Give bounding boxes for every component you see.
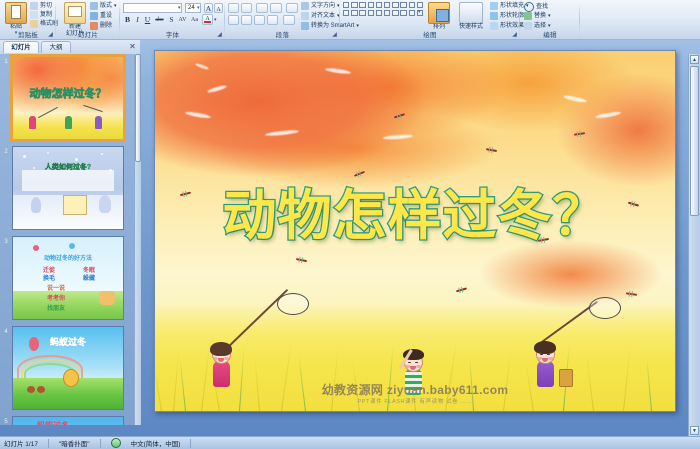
thumbnail-row-2[interactable]: 2 人类如何过冬? bbox=[0, 146, 134, 230]
shape-arc-icon[interactable] bbox=[359, 10, 365, 16]
shape-rect2-icon[interactable] bbox=[400, 2, 406, 8]
font-name-input[interactable] bbox=[123, 3, 182, 13]
replace-button[interactable]: 替换▾ bbox=[524, 12, 551, 20]
character-spacing-button[interactable]: AV bbox=[177, 15, 188, 25]
thumbnail-row-1[interactable]: 1 动物怎样过冬？ bbox=[0, 56, 134, 140]
shape-line-icon[interactable] bbox=[359, 2, 365, 8]
slide-editing-stage[interactable]: 动物怎样过冬？ bbox=[140, 44, 688, 423]
main-scrollbar-thumb[interactable] bbox=[690, 66, 699, 216]
status-bar: 幻灯片 1/17 "暗香扑面" 中文(简体，中国) bbox=[0, 436, 700, 449]
thumb3-word-huanmao: 换毛 bbox=[43, 273, 55, 282]
thumb4-ant bbox=[27, 386, 35, 393]
paste-button[interactable]: 粘贴 ▾ bbox=[3, 2, 29, 36]
clipboard-dialog-launcher[interactable]: ◢ bbox=[47, 32, 54, 39]
thumbnail-number-4: 4 bbox=[0, 326, 12, 410]
status-slide-counter[interactable]: 幻灯片 1/17 bbox=[4, 438, 38, 448]
scroll-down-arrow[interactable]: ▼ bbox=[690, 426, 699, 435]
slide-thumbnail-3[interactable]: 动物过冬的好方法 迁徙 冬眠 换毛 躲藏 说一说 考考你 找朋友 bbox=[12, 236, 124, 320]
select-button[interactable]: 选择▾ bbox=[524, 22, 551, 30]
shape-oval-icon[interactable] bbox=[392, 2, 398, 8]
thumb3-butterfly bbox=[69, 243, 75, 249]
thumb3-butterfly bbox=[33, 245, 39, 251]
watermark-text: 幼教资源网 ziyuan.baby611.com bbox=[155, 381, 675, 398]
shape-effects-icon bbox=[490, 22, 498, 30]
increase-indent-button[interactable] bbox=[270, 3, 282, 13]
globe-icon bbox=[111, 438, 121, 448]
thumb4-ant-big bbox=[63, 369, 79, 387]
slide-thumbnail-2[interactable]: 人类如何过冬? bbox=[12, 146, 124, 230]
increase-font-size-icon: A bbox=[205, 4, 212, 14]
slide-thumbnail-4[interactable]: 蚂蚁过冬 bbox=[12, 326, 124, 410]
reset-label: 重设 bbox=[100, 12, 112, 20]
thumb5-cloud bbox=[73, 423, 93, 425]
search-icon bbox=[524, 2, 534, 12]
text-direction-label: 文字方向 bbox=[311, 2, 335, 10]
align-text-icon bbox=[301, 12, 309, 20]
shape-rectangle-icon[interactable] bbox=[343, 2, 349, 8]
format-painter-button[interactable]: 格式刷 bbox=[30, 20, 58, 28]
decrease-font-size-button[interactable]: A bbox=[214, 3, 223, 13]
group-label-font: 字体 bbox=[120, 32, 225, 40]
justify-button[interactable] bbox=[267, 15, 278, 25]
scroll-up-arrow[interactable]: ▲ bbox=[690, 55, 699, 64]
thumbnail-number-5: 5 bbox=[0, 416, 12, 425]
shape-star-icon[interactable] bbox=[392, 10, 398, 16]
shape-fill-icon bbox=[490, 2, 498, 10]
align-center-button[interactable] bbox=[241, 15, 252, 25]
underline-button[interactable]: U bbox=[143, 15, 152, 25]
thumbnail-row-3[interactable]: 3 动物过冬的好方法 迁徙 冬眠 换毛 躲藏 说一说 考考你 找朋友 bbox=[0, 236, 134, 320]
font-size-dropdown-arrow[interactable]: ▾ bbox=[197, 5, 200, 11]
cut-label: 剪切 bbox=[40, 2, 52, 10]
quick-styles-icon bbox=[459, 2, 483, 24]
group-label-slides: 幻灯片 bbox=[56, 32, 120, 40]
thumbnail-number-3: 3 bbox=[0, 236, 12, 320]
main-vertical-scrollbar[interactable]: ▲ ▼ bbox=[688, 54, 700, 436]
delete-slide-button[interactable]: 删除 bbox=[90, 22, 112, 30]
paintbrush-icon bbox=[30, 20, 38, 28]
shape-pentagon-icon[interactable] bbox=[376, 10, 382, 16]
arrange-icon bbox=[428, 2, 450, 24]
shape-chevron-icon[interactable] bbox=[400, 10, 406, 16]
thumb2-tree bbox=[99, 195, 111, 213]
thumbnail-title-1: 动物怎样过冬？ bbox=[13, 85, 123, 101]
font-name-dropdown-arrow[interactable]: ▾ bbox=[178, 5, 181, 11]
child-hair bbox=[534, 341, 556, 354]
tab-outline[interactable]: 大纲 bbox=[41, 41, 71, 53]
shape-line2-icon[interactable] bbox=[368, 2, 374, 8]
left-pane-tabstrip: 幻灯片 大纲 ✕ bbox=[0, 40, 140, 55]
group-label-paragraph: 段落 bbox=[225, 32, 340, 40]
align-text-label: 对齐文本 bbox=[311, 12, 335, 20]
thumb3-deer bbox=[99, 291, 115, 305]
current-slide[interactable]: 动物怎样过冬？ bbox=[154, 50, 676, 412]
shapes-more-arrow[interactable]: ▾ bbox=[418, 9, 421, 15]
thumb2-house bbox=[63, 195, 87, 215]
thumb2-text-block bbox=[22, 170, 114, 191]
snowflake bbox=[75, 158, 78, 161]
powerpoint-window: 粘贴 ▾ 剪切 复制 格式刷 剪贴板 ◢ bbox=[0, 0, 700, 449]
font-color-swatch bbox=[204, 21, 211, 23]
shape-arrow-icon[interactable] bbox=[417, 2, 423, 8]
thumbnail-number-1: 1 bbox=[0, 56, 12, 140]
align-text-button[interactable]: 对齐文本▾ bbox=[301, 12, 340, 20]
increase-font-size-button[interactable]: A bbox=[204, 3, 213, 13]
ribbon: 粘贴 ▾ 剪切 复制 格式刷 剪贴板 ◢ bbox=[0, 0, 700, 40]
italic-button[interactable]: I bbox=[133, 15, 142, 25]
snowflake bbox=[47, 152, 49, 154]
thumb1-kid-3 bbox=[95, 116, 102, 129]
font-dialog-launcher[interactable]: ◢ bbox=[216, 32, 223, 39]
status-divider bbox=[48, 439, 49, 448]
status-theme-name[interactable]: "暗香扑面" bbox=[59, 438, 90, 448]
text-shadow-button[interactable]: S bbox=[167, 15, 176, 25]
replace-label: 替换 bbox=[534, 12, 546, 20]
line-spacing-button[interactable] bbox=[286, 3, 298, 13]
snowflake bbox=[101, 153, 103, 155]
close-pane-icon[interactable]: ✕ bbox=[128, 42, 137, 51]
find-label: 查找 bbox=[536, 3, 548, 11]
quick-styles-label: 快速样式 bbox=[456, 24, 486, 31]
thumb4-body-text bbox=[35, 349, 113, 371]
copy-button[interactable]: 复制 bbox=[30, 11, 52, 19]
drawing-dialog-launcher[interactable]: ◢ bbox=[511, 32, 518, 39]
align-left-button[interactable] bbox=[228, 15, 239, 25]
slide-thumbnail-1[interactable]: 动物怎样过冬？ bbox=[12, 56, 124, 140]
text-direction-icon bbox=[301, 2, 309, 10]
shape-rounded-icon[interactable] bbox=[384, 2, 390, 8]
bullets-button[interactable] bbox=[228, 3, 239, 13]
arrange-label: 排列 bbox=[426, 24, 452, 31]
quick-styles-button[interactable]: 快速样式 bbox=[456, 2, 486, 31]
strikethrough-button[interactable]: abc bbox=[153, 15, 166, 25]
thumb1-kid-1 bbox=[29, 116, 36, 129]
shape-brace-left-icon[interactable] bbox=[409, 10, 415, 16]
paragraph-dialog-launcher[interactable]: ◢ bbox=[331, 32, 338, 39]
thumbnail-row-4[interactable]: 4 蚂蚁过冬 bbox=[0, 326, 134, 410]
new-slide-icon bbox=[64, 2, 86, 24]
layout-icon bbox=[90, 2, 98, 10]
child-hair bbox=[210, 342, 232, 356]
decrease-indent-button[interactable] bbox=[256, 3, 268, 13]
thumb3-word-shuoyishuo: 说一说 bbox=[47, 283, 65, 292]
ribbon-group-drawing: ▾ 排列 快速样式 形状填充▾ 形状轮廓▾ bbox=[340, 0, 520, 40]
status-language[interactable]: 中文(简体，中国) bbox=[131, 438, 181, 448]
thumbnail-number-2: 2 bbox=[0, 146, 12, 230]
thumb2-tree bbox=[31, 197, 41, 213]
copy-icon bbox=[30, 11, 38, 19]
thumb3-word-kaokaoni: 考考你 bbox=[47, 293, 65, 302]
group-label-editing: 编辑 bbox=[520, 32, 580, 40]
ribbon-group-font: ▾ 24 ▾ A A B I U abc S AV Aa A bbox=[120, 0, 225, 40]
reset-icon bbox=[90, 12, 98, 20]
thumb3-word-zhaopengyou: 找朋友 bbox=[47, 303, 65, 312]
thumbnail-title-3: 动物过冬的好方法 bbox=[13, 253, 123, 262]
font-color-dropdown-arrow[interactable]: ▾ bbox=[214, 17, 217, 23]
thumb5-title: 蚂蚁过冬 bbox=[37, 420, 69, 425]
thumbnail-row-5[interactable]: 5 蚂蚁过冬 bbox=[0, 416, 134, 425]
numbering-button[interactable] bbox=[241, 3, 252, 13]
ribbon-group-clipboard: 粘贴 ▾ 剪切 复制 格式刷 剪贴板 ◢ bbox=[0, 0, 56, 40]
replace-icon bbox=[524, 12, 532, 20]
copy-label: 复制 bbox=[40, 11, 52, 19]
status-divider bbox=[100, 439, 101, 448]
slide-title[interactable]: 动物怎样过冬？ bbox=[155, 171, 675, 250]
find-button[interactable]: 查找 bbox=[524, 2, 548, 12]
font-color-button[interactable]: A bbox=[202, 14, 213, 25]
smartart-icon bbox=[301, 22, 309, 30]
columns-button[interactable] bbox=[283, 15, 295, 25]
tab-slides[interactable]: 幻灯片 bbox=[3, 41, 39, 53]
align-right-button[interactable] bbox=[254, 15, 265, 25]
scissors-icon bbox=[30, 2, 38, 10]
ribbon-group-paragraph: 文字方向▾ 对齐文本▾ 转换为 SmartArt▾ 段落 ◢ bbox=[225, 0, 340, 40]
shape-square-icon[interactable] bbox=[376, 2, 382, 8]
status-divider bbox=[190, 439, 191, 448]
shape-curve-icon[interactable] bbox=[343, 10, 349, 16]
text-direction-button[interactable]: 文字方向▾ bbox=[301, 2, 340, 10]
bold-button[interactable]: B bbox=[123, 15, 132, 25]
paste-icon bbox=[5, 2, 27, 24]
shape-textbox-icon[interactable] bbox=[351, 2, 357, 8]
thumb3-word-duocang: 躲藏 bbox=[83, 273, 95, 282]
butterfly-net-hoop bbox=[589, 297, 621, 319]
delete-label: 删除 bbox=[100, 22, 112, 30]
watermark-subtext: PPT课件 FLASH课件 有声读物 试卷 …… bbox=[155, 397, 675, 405]
delete-icon bbox=[90, 22, 98, 30]
butterfly-net-hoop bbox=[277, 293, 309, 315]
reset-button[interactable]: 重设 bbox=[90, 12, 112, 20]
thumb1-kid-2 bbox=[65, 116, 72, 129]
select-icon bbox=[524, 22, 532, 30]
arrange-button[interactable]: 排列 bbox=[426, 2, 452, 31]
shape-updown-icon[interactable] bbox=[368, 10, 374, 16]
group-label-drawing: 绘图 bbox=[340, 32, 520, 40]
layout-button[interactable]: 版式▾ bbox=[90, 2, 117, 10]
ribbon-group-slides: 新建 幻灯片 版式▾ 重设 删除 幻灯片 bbox=[56, 0, 120, 40]
shapes-gallery[interactable] bbox=[343, 2, 424, 17]
snowflake bbox=[23, 155, 26, 158]
new-slide-label-line1: 新建 bbox=[62, 24, 88, 31]
layout-label: 版式 bbox=[100, 2, 112, 10]
decrease-font-size-icon: A bbox=[215, 5, 222, 15]
shape-triangle-icon[interactable] bbox=[409, 2, 415, 8]
cut-button[interactable]: 剪切 bbox=[30, 2, 52, 10]
change-case-button[interactable]: Aa bbox=[189, 15, 200, 25]
select-label: 选择 bbox=[534, 22, 546, 30]
slide-thumbnail-pane[interactable]: 1 动物怎样过冬？ 2 bbox=[0, 54, 134, 425]
slide-thumbnail-5[interactable]: 蚂蚁过冬 bbox=[12, 416, 124, 425]
shape-moon-icon[interactable] bbox=[384, 10, 390, 16]
shape-freeform-icon[interactable] bbox=[351, 10, 357, 16]
thumb4-balloon bbox=[29, 337, 39, 351]
ribbon-group-editing: 查找 替换▾ 选择▾ 编辑 bbox=[520, 0, 580, 40]
shape-outline-icon bbox=[490, 12, 498, 20]
thumb4-ant bbox=[37, 386, 45, 393]
